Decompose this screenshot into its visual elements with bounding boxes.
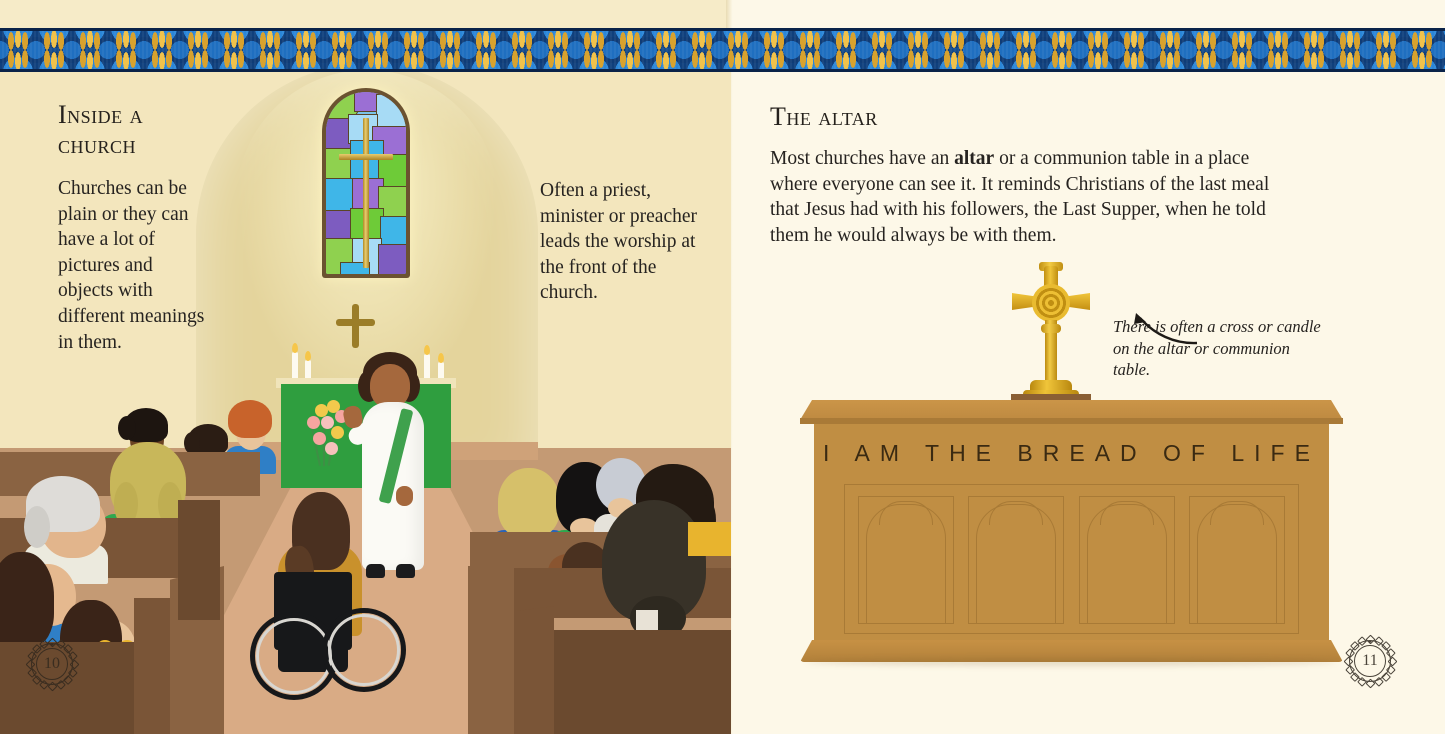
altar-panel bbox=[968, 496, 1064, 624]
stained-glass-panes bbox=[326, 92, 406, 274]
wooden-altar-table: I AM THE BREAD OF LIFE bbox=[800, 400, 1343, 672]
wheelchair-rim-left bbox=[256, 618, 332, 694]
priest-shoe bbox=[396, 564, 415, 578]
gold-standing-cross bbox=[1012, 262, 1090, 410]
wheelchair-user bbox=[248, 488, 396, 720]
book-spread: Inside a church Churches can be plain or… bbox=[0, 0, 1445, 734]
altar-table-top bbox=[800, 400, 1343, 420]
gold-cross-window-arm bbox=[339, 154, 393, 160]
wall-cross-icon bbox=[352, 304, 359, 348]
cross-stem-knob bbox=[1041, 324, 1061, 333]
altar-panel bbox=[1079, 496, 1175, 624]
pew-left-mid-end bbox=[178, 500, 220, 620]
page-title-the-altar: The altar bbox=[770, 102, 1090, 132]
page-number-badge-right: 11 bbox=[1349, 640, 1391, 682]
body-text-altar: Most churches have an altar or a communi… bbox=[770, 146, 1270, 248]
heading-line-1: Inside a bbox=[58, 100, 268, 130]
page-number: 10 bbox=[44, 656, 60, 672]
stained-glass-window bbox=[322, 88, 410, 278]
page-number-badge-left: 10 bbox=[31, 643, 73, 685]
pew-cushion-yellow bbox=[688, 522, 731, 556]
pew-aisle-right bbox=[468, 566, 514, 734]
altar-keyword-bold: altar bbox=[954, 148, 994, 169]
altar-text-part1: Most churches have an bbox=[770, 148, 954, 169]
body-text-left-column: Churches can be plain or they can have a… bbox=[58, 176, 208, 355]
altar-ground-shadow bbox=[806, 658, 1337, 666]
candle-flame bbox=[292, 343, 298, 353]
altar-panel bbox=[858, 496, 954, 624]
cross-spiral-medallion bbox=[1032, 284, 1070, 322]
pew-front-right bbox=[540, 630, 731, 734]
wall-cross-arm bbox=[336, 319, 375, 326]
church-interior-illustration bbox=[0, 70, 731, 734]
priest-hand bbox=[396, 486, 413, 506]
page-number: 11 bbox=[1362, 653, 1377, 669]
candle-flame bbox=[305, 351, 311, 361]
cross-caption: There is often a cross or candle on the … bbox=[1113, 316, 1328, 381]
altar-inscription: I AM THE BREAD OF LIFE bbox=[814, 440, 1329, 467]
altar-panel bbox=[1189, 496, 1285, 624]
heading-line-2: church bbox=[58, 130, 268, 160]
body-text-right-column: Often a priest, minister or preacher lea… bbox=[540, 178, 700, 306]
page-title-inside-a-church: Inside a church bbox=[58, 100, 268, 160]
wheelchair-rim-right bbox=[328, 614, 400, 686]
gold-cross-window-vertical bbox=[363, 118, 369, 268]
altar-arched-panels bbox=[858, 496, 1285, 624]
